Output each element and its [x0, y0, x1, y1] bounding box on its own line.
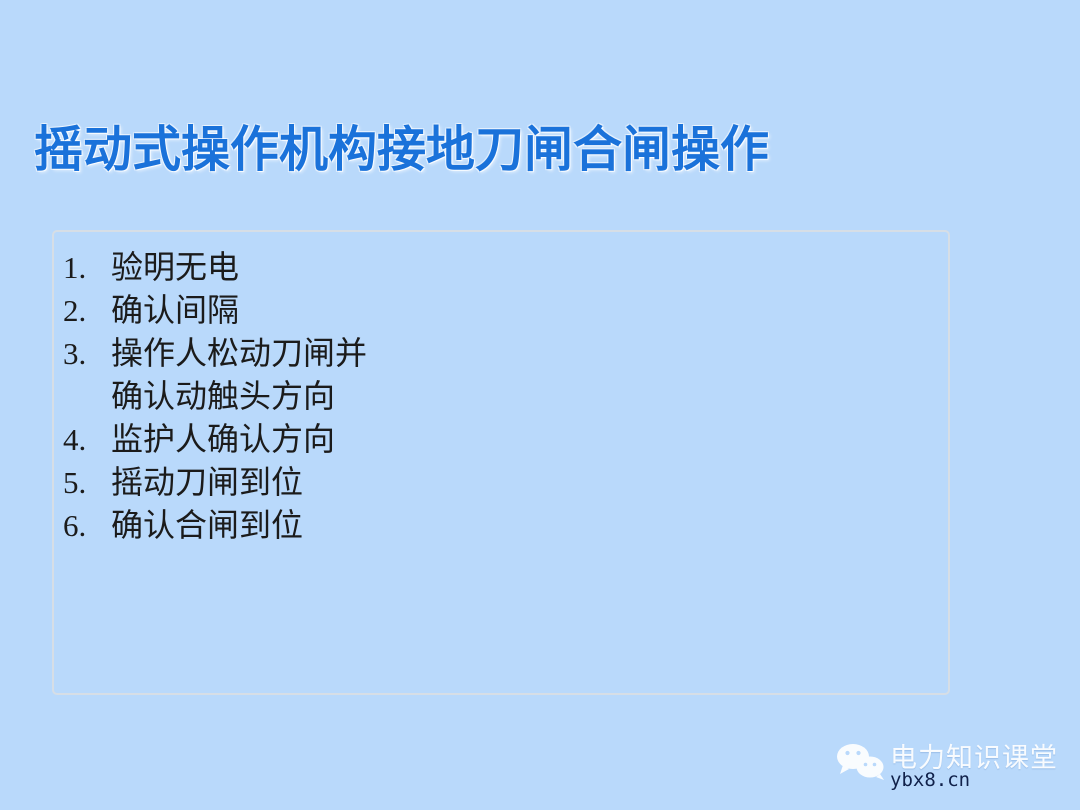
list-item-number: 5. — [63, 461, 111, 504]
list-item-label: 确认间隔 — [111, 289, 239, 332]
list-item: 5. 摇动刀闸到位 — [63, 461, 367, 504]
list-item: 1. 验明无电 — [63, 246, 367, 289]
list-item-label: 摇动刀闸到位 — [111, 461, 303, 504]
page-title: 摇动式操作机构接地刀闸合闸操作 — [34, 118, 769, 182]
slide-canvas: 摇动式操作机构接地刀闸合闸操作 1. 验明无电 2. 确认间隔 3. 操作人松动… — [0, 0, 1080, 810]
list-item-number: 4. — [63, 418, 111, 461]
content-box: 1. 验明无电 2. 确认间隔 3. 操作人松动刀闸并 确认动触头方向 4. 监… — [52, 230, 950, 695]
list-item: 4. 监护人确认方向 — [63, 418, 367, 461]
list-item-label-line1: 操作人松动刀闸并 — [111, 332, 367, 375]
list-item-label: 监护人确认方向 — [111, 418, 335, 461]
list-item-label-line2: 确认动触头方向 — [111, 375, 367, 418]
wechat-icon — [836, 743, 888, 781]
list-item-number: 1. — [63, 246, 111, 289]
steps-list: 1. 验明无电 2. 确认间隔 3. 操作人松动刀闸并 确认动触头方向 4. 监… — [63, 246, 367, 547]
list-item: 6. 确认合闸到位 — [63, 504, 367, 547]
watermark-url-label: ybx8.cn — [890, 769, 970, 791]
list-item-label: 验明无电 — [111, 246, 239, 289]
list-item: 3. 操作人松动刀闸并 确认动触头方向 — [63, 332, 367, 418]
list-item-label: 确认合闸到位 — [111, 504, 303, 547]
watermark: 电力知识课堂 ybx8.cn — [830, 740, 1070, 798]
list-item-label: 操作人松动刀闸并 确认动触头方向 — [111, 332, 367, 418]
list-item-number: 6. — [63, 504, 111, 547]
list-item-number: 2. — [63, 289, 111, 332]
list-item-number: 3. — [63, 332, 111, 375]
list-item: 2. 确认间隔 — [63, 289, 367, 332]
